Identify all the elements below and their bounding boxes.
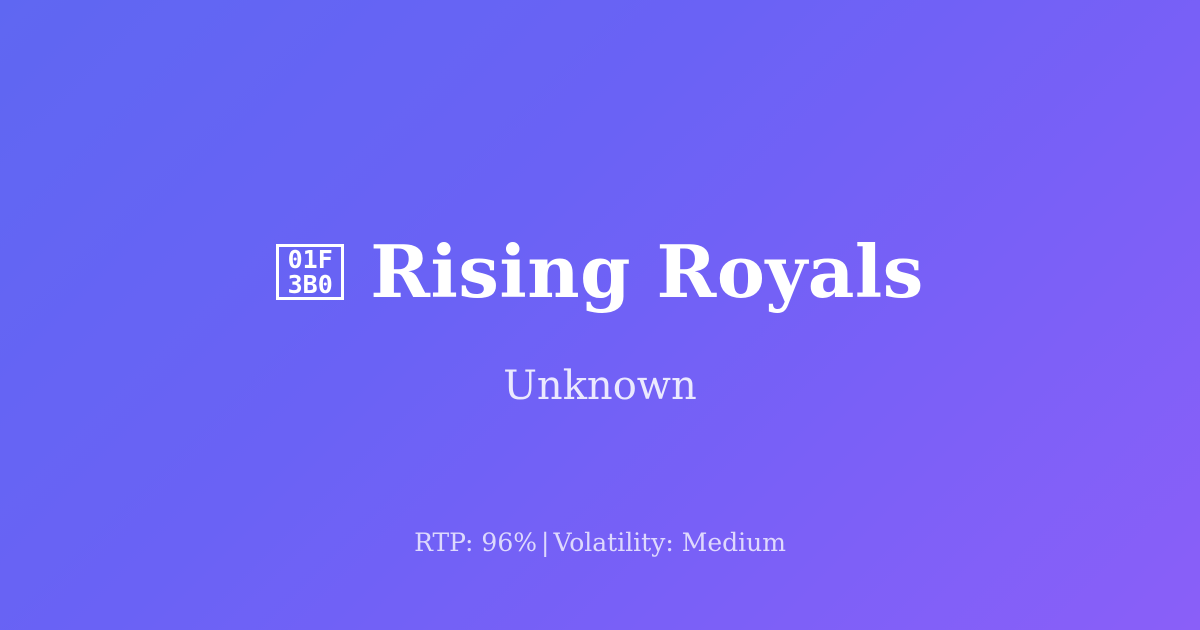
title-row: 01F 3B0 Rising Royals	[0, 232, 1200, 312]
game-meta-line: RTP: 96%|Volatility: Medium	[0, 528, 1200, 558]
volatility-value: Volatility: Medium	[553, 528, 785, 557]
tofu-codepoint-bottom: 3B0	[288, 272, 333, 297]
meta-separator: |	[537, 528, 553, 557]
slot-machine-emoji-icon: 01F 3B0	[276, 244, 344, 300]
provider-label: Unknown	[0, 362, 1200, 410]
game-share-card: 01F 3B0 Rising Royals Unknown RTP: 96%|V…	[0, 0, 1200, 630]
tofu-codepoint-top: 01F	[288, 247, 333, 272]
rtp-value: RTP: 96%	[414, 528, 537, 557]
game-title: Rising Royals	[370, 233, 924, 311]
